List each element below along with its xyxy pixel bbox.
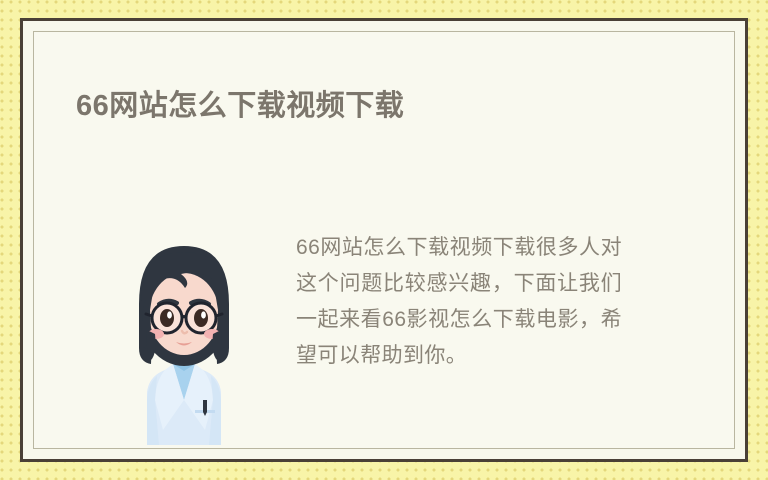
- female-doctor-avatar: [119, 230, 249, 445]
- eye-right: [194, 309, 208, 327]
- inner-frame: 66网站怎么下载视频下载: [33, 31, 735, 449]
- outer-frame: 66网站怎么下载视频下载: [20, 18, 748, 462]
- poster-canvas: 66网站怎么下载视频下载: [0, 0, 768, 480]
- content-row: 66网站怎么下载视频下载很多人对这个问题比较感兴趣，下面让我们一起来看66影视怎…: [34, 200, 734, 450]
- body-paragraph: 66网站怎么下载视频下载很多人对这个问题比较感兴趣，下面让我们一起来看66影视怎…: [296, 230, 622, 374]
- page-title: 66网站怎么下载视频下载: [76, 82, 404, 124]
- eye-left: [160, 309, 174, 327]
